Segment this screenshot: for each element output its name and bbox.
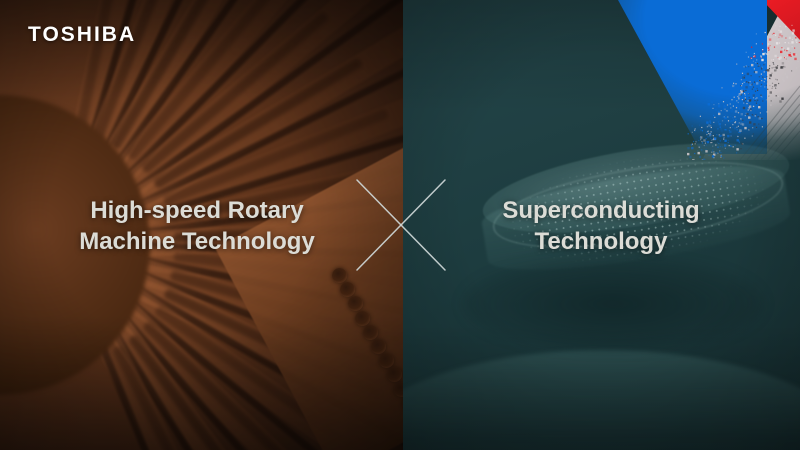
corner-graphic-particle bbox=[700, 139, 701, 140]
corner-graphic-particle bbox=[784, 50, 785, 51]
corner-graphic-particle bbox=[692, 125, 693, 126]
corner-graphic-particle bbox=[757, 63, 758, 64]
corner-graphic-particle bbox=[713, 104, 714, 105]
corner-graphic-particle bbox=[702, 160, 703, 161]
corner-graphic-particle bbox=[687, 153, 689, 155]
corner-graphic-particle bbox=[754, 100, 755, 101]
corner-graphic-particle bbox=[728, 142, 729, 143]
corner-graphic-particle bbox=[706, 145, 707, 146]
corner-graphic-particle bbox=[719, 150, 720, 151]
corner-graphic-particle bbox=[759, 80, 760, 81]
corner-graphic-particle bbox=[738, 102, 739, 103]
corner-graphic-particle bbox=[761, 74, 762, 75]
corner-graphic-particle bbox=[741, 85, 742, 86]
corner-graphic-particle bbox=[721, 110, 722, 111]
corner-graphic-particle bbox=[727, 135, 729, 137]
corner-graphic-particle bbox=[710, 142, 711, 143]
corner-graphic-particle bbox=[769, 96, 770, 97]
corner-graphic-particle bbox=[739, 68, 740, 69]
corner-graphic-particle bbox=[783, 66, 784, 67]
corner-graphic-particle bbox=[748, 56, 749, 57]
corner-graphic-particle bbox=[766, 99, 767, 100]
corner-graphic-particle bbox=[704, 145, 705, 146]
corner-graphic-particle bbox=[775, 79, 776, 80]
corner-graphic-particle bbox=[741, 79, 742, 80]
corner-graphic-particle bbox=[766, 81, 767, 82]
corner-graphic-particle bbox=[760, 55, 761, 56]
corner-graphic-particle bbox=[730, 103, 731, 104]
corner-graphic-particle bbox=[732, 85, 734, 87]
corner-graphic-particle bbox=[759, 117, 761, 119]
corner-graphic-particle bbox=[777, 73, 778, 74]
corner-graphic-particle bbox=[729, 130, 730, 131]
corner-graphic-particle bbox=[746, 103, 747, 104]
corner-graphic-particle bbox=[705, 150, 707, 152]
corner-graphic-particle bbox=[712, 139, 713, 140]
corner-graphic-particle bbox=[765, 62, 766, 63]
corner-graphic-particle bbox=[784, 66, 785, 67]
corner-graphic-particle bbox=[790, 52, 791, 53]
corner-graphic-particle bbox=[708, 133, 709, 134]
headline-superconducting: Superconducting Technology bbox=[455, 195, 747, 257]
corner-graphic-particle bbox=[750, 110, 751, 111]
corner-graphic-particle bbox=[744, 93, 745, 94]
corner-graphic-particle bbox=[758, 124, 759, 125]
corner-graphic-particle bbox=[720, 140, 721, 141]
corner-graphic-particle bbox=[741, 90, 742, 91]
corner-graphic-particle bbox=[728, 120, 729, 121]
corner-graphic-particle bbox=[783, 80, 784, 81]
corner-graphic-particle bbox=[717, 128, 718, 129]
corner-graphic-particle bbox=[754, 71, 755, 72]
corner-graphic-particle bbox=[761, 59, 763, 61]
corner-graphic-particle bbox=[735, 145, 736, 146]
corner-graphic-particle bbox=[745, 90, 746, 91]
corner-graphic-particle bbox=[737, 84, 738, 85]
corner-graphic-particle bbox=[714, 137, 716, 139]
corner-graphic-particle bbox=[770, 105, 771, 106]
corner-graphic-particle bbox=[723, 117, 724, 118]
corner-graphic-particle bbox=[735, 119, 736, 120]
corner-graphic-particle bbox=[695, 128, 696, 129]
corner-graphic-particle bbox=[769, 84, 770, 85]
corner-graphic-particle bbox=[753, 97, 754, 98]
corner-graphic-particle bbox=[787, 65, 788, 66]
corner-graphic-particle bbox=[734, 86, 735, 87]
corner-graphic-particle bbox=[786, 58, 787, 59]
corner-graphic-particle bbox=[770, 74, 772, 76]
corner-graphic-particle bbox=[761, 118, 762, 119]
corner-graphic-particle bbox=[739, 122, 740, 123]
corner-graphic-particle bbox=[793, 53, 795, 55]
corner-graphic-particle bbox=[736, 127, 737, 128]
corner-graphic-particle bbox=[764, 78, 765, 79]
corner-graphic-particle bbox=[764, 71, 765, 72]
corner-graphic-particle bbox=[758, 106, 760, 108]
corner-graphic-particle bbox=[753, 123, 755, 125]
corner-graphic-particle bbox=[697, 150, 698, 151]
corner-graphic-particle bbox=[796, 30, 797, 31]
corner-graphic-particle bbox=[707, 136, 708, 137]
corner-graphic-particle bbox=[781, 47, 782, 48]
corner-graphic-particle bbox=[712, 146, 713, 147]
corner-graphic-particle bbox=[711, 131, 712, 132]
corner-graphic-particle bbox=[730, 91, 731, 92]
corner-graphic-particle bbox=[720, 128, 721, 129]
corner-graphic-particle bbox=[791, 41, 793, 43]
corner-graphic-particle bbox=[700, 137, 701, 138]
corner-graphic-particle bbox=[724, 144, 726, 146]
corner-graphic-particle bbox=[760, 86, 761, 87]
corner-graphic-particle bbox=[741, 91, 743, 93]
corner-graphic-particle bbox=[700, 156, 701, 157]
corner-graphic-particle bbox=[734, 127, 736, 129]
corner-graphic-particle bbox=[761, 97, 762, 98]
corner-graphic-particle bbox=[739, 87, 741, 89]
corner-graphic-particle bbox=[764, 81, 765, 82]
corner-graphic-particle bbox=[784, 60, 785, 61]
corner-graphic-particle bbox=[718, 111, 719, 112]
corner-graphic-particle bbox=[751, 47, 752, 48]
corner-graphic-particle bbox=[701, 127, 702, 128]
corner-graphic-particle bbox=[738, 112, 739, 113]
corner-graphic-particle bbox=[772, 86, 773, 87]
corner-graphic-particle bbox=[739, 132, 740, 133]
corner-graphic-particle bbox=[734, 97, 735, 98]
corner-graphic-particle bbox=[788, 61, 789, 62]
headline-high-speed-rotary-machine: High-speed Rotary Machine Technology bbox=[44, 195, 350, 257]
corner-graphic-particle bbox=[730, 135, 731, 136]
corner-graphic-particle bbox=[688, 133, 689, 134]
corner-graphic-particle bbox=[752, 135, 753, 136]
corner-graphic-particle bbox=[765, 32, 766, 33]
corner-graphic-particle bbox=[723, 134, 725, 136]
corner-graphic-particle bbox=[691, 144, 692, 145]
corner-graphic-particle bbox=[776, 87, 777, 88]
corner-graphic-particle bbox=[732, 123, 733, 124]
corner-graphic-particle bbox=[712, 155, 714, 157]
corner-graphic-particle bbox=[787, 77, 788, 78]
corner-graphic-particle bbox=[785, 26, 786, 27]
corner-graphic-particle bbox=[714, 117, 715, 118]
corner-graphic-particle bbox=[747, 73, 749, 75]
corner-graphic-particle bbox=[736, 107, 737, 108]
corner-graphic-particle bbox=[775, 73, 777, 75]
corner-graphic-particle bbox=[689, 156, 691, 158]
corner-graphic-particle bbox=[765, 52, 766, 53]
corner-graphic-particle bbox=[701, 141, 702, 142]
corner-graphic-particle bbox=[745, 66, 746, 67]
corner-graphic-particle bbox=[759, 76, 760, 77]
corner-graphic-particle bbox=[744, 82, 745, 83]
corner-graphic-particle bbox=[766, 70, 767, 71]
corner-graphic-particle bbox=[706, 134, 707, 135]
corner-graphic-particle bbox=[739, 94, 740, 95]
corner-graphic-particle bbox=[730, 145, 731, 146]
corner-graphic-particle bbox=[708, 131, 709, 132]
corner-graphic-particle bbox=[770, 81, 771, 82]
corner-graphic-particle bbox=[716, 134, 717, 135]
corner-graphic-particle bbox=[744, 127, 746, 129]
corner-graphic-particle bbox=[737, 129, 738, 130]
corner-graphic-particle bbox=[742, 76, 744, 78]
corner-graphic-particle bbox=[738, 98, 739, 99]
corner-graphic-particle bbox=[769, 68, 770, 69]
corner-graphic-particle bbox=[727, 116, 728, 117]
corner-graphic-particle bbox=[748, 66, 749, 67]
corner-graphic-particle bbox=[694, 153, 695, 154]
headline-left-line1: High-speed Rotary bbox=[44, 195, 350, 226]
corner-graphic-particle bbox=[705, 149, 706, 150]
corner-graphic-particle bbox=[767, 69, 769, 71]
corner-graphic-particle bbox=[778, 96, 779, 97]
corner-graphic-particle bbox=[723, 137, 724, 138]
corner-graphic-particle bbox=[785, 37, 786, 38]
corner-graphic-particle bbox=[725, 129, 726, 130]
corner-graphic-particle bbox=[779, 34, 781, 36]
corner-graphic-particle bbox=[754, 68, 755, 69]
corner-graphic-particle bbox=[730, 127, 731, 128]
corner-graphic-particle bbox=[790, 43, 791, 44]
corner-graphic-particle bbox=[751, 84, 752, 85]
corner-graphic-particle bbox=[761, 80, 762, 81]
corner-graphic-particle bbox=[742, 73, 743, 74]
corner-graphic-particle bbox=[729, 110, 730, 111]
corner-graphic-particle bbox=[755, 62, 756, 63]
corner-graphic-particle bbox=[733, 146, 734, 147]
corner-graphic-particle bbox=[698, 152, 700, 154]
corner-graphic-particle bbox=[773, 33, 774, 34]
corner-graphic-particle bbox=[795, 39, 797, 41]
corner-graphic-particle bbox=[739, 108, 740, 109]
corner-graphic-particle bbox=[755, 98, 756, 99]
corner-graphic-particle bbox=[745, 97, 746, 98]
corner-graphic-particle bbox=[718, 113, 720, 115]
corner-graphic-particle bbox=[725, 124, 726, 125]
corner-graphic-particle bbox=[745, 86, 747, 88]
corner-graphic-particle bbox=[707, 141, 709, 143]
corner-graphic-particle bbox=[792, 39, 793, 40]
corner-graphic-particle bbox=[769, 62, 770, 63]
corner-graphic-particle bbox=[745, 99, 746, 100]
corner-graphic-particle bbox=[722, 146, 723, 147]
corner-graphic-particle bbox=[743, 103, 744, 104]
corner-graphic-particle bbox=[717, 142, 718, 143]
corner-graphic-particle bbox=[733, 119, 734, 120]
corner-graphic-particle bbox=[702, 142, 703, 143]
corner-graphic-particle bbox=[774, 62, 776, 64]
corner-graphic-particle bbox=[737, 96, 738, 97]
corner-graphic-particle bbox=[724, 140, 726, 142]
corner-graphic-particle bbox=[771, 100, 772, 101]
corner-graphic-particle bbox=[795, 54, 796, 55]
corner-graphic-particle bbox=[750, 117, 751, 118]
corner-graphic-particle bbox=[762, 100, 763, 101]
corner-graphic-particle bbox=[725, 95, 726, 96]
corner-graphic-particle bbox=[737, 123, 738, 124]
corner-graphic-particle bbox=[776, 42, 778, 44]
corner-graphic-particle bbox=[749, 105, 751, 107]
corner-graphic-particle bbox=[754, 53, 755, 54]
corner-graphic-shapes bbox=[590, 0, 800, 160]
corner-graphic-particle bbox=[694, 130, 695, 131]
corner-graphic-particle bbox=[719, 135, 721, 137]
corner-graphic-particle bbox=[712, 108, 713, 109]
corner-graphic-particle bbox=[752, 89, 753, 90]
corner-graphic-particle bbox=[723, 108, 724, 109]
corner-graphic-particle bbox=[705, 143, 706, 144]
corner-graphic-particle bbox=[692, 159, 694, 160]
corner-graphic-particle bbox=[723, 139, 724, 140]
corner-graphic-particle bbox=[717, 147, 718, 148]
corner-graphic-particle bbox=[766, 85, 767, 86]
corner-graphic-particle bbox=[687, 147, 689, 149]
corner-graphic-particle bbox=[748, 93, 749, 94]
corner-graphic-particle bbox=[703, 159, 705, 160]
corner-graphic-particle bbox=[727, 104, 728, 105]
corner-graphic-particle bbox=[699, 125, 700, 126]
corner-graphic-particle bbox=[723, 157, 724, 158]
corner-graphic-particle bbox=[749, 104, 750, 105]
corner-graphic-particle bbox=[777, 79, 778, 80]
slide-canvas: TOSHIBA High-speed Rotary Machine Techno… bbox=[0, 0, 800, 450]
corner-graphic-particle bbox=[743, 91, 744, 92]
headline-right-line1: Superconducting bbox=[455, 195, 747, 226]
corner-graphic-particle bbox=[770, 71, 771, 72]
corner-graphic-particle bbox=[721, 87, 722, 88]
corner-graphic-particle bbox=[769, 49, 770, 50]
corner-graphic-particle bbox=[743, 100, 744, 101]
corner-graphic-particle bbox=[740, 148, 741, 149]
corner-graphic-particle bbox=[761, 68, 762, 69]
corner-graphic-particle bbox=[792, 37, 793, 38]
corner-graphic-particle bbox=[719, 123, 721, 125]
corner-graphic-particle bbox=[741, 143, 742, 144]
corner-graphic-particle bbox=[746, 52, 747, 53]
corner-graphic-particle bbox=[791, 25, 792, 26]
corner-graphic-particle bbox=[711, 140, 712, 141]
corner-graphic-particle bbox=[776, 95, 777, 96]
corner-graphic-particle bbox=[756, 43, 757, 44]
corner-graphic-particle bbox=[717, 153, 718, 154]
corner-graphic-particle bbox=[767, 54, 768, 55]
corner-graphic-particle bbox=[754, 55, 755, 56]
corner-graphic-particle bbox=[795, 37, 796, 38]
corner-graphic-particle bbox=[693, 141, 694, 142]
corner-graphic-particle bbox=[712, 142, 713, 143]
corner-graphic-particle bbox=[779, 59, 780, 60]
corner-graphic-particle bbox=[707, 126, 708, 127]
corner-graphic-particle bbox=[735, 110, 737, 112]
corner-graphic-particle bbox=[761, 84, 762, 85]
corner-graphic-particle bbox=[730, 107, 731, 108]
corner-graphic-particle bbox=[787, 75, 788, 76]
corner-blue-shape bbox=[618, 0, 767, 154]
corner-graphic-particle bbox=[737, 135, 738, 136]
corner-graphic-particle bbox=[736, 64, 737, 65]
corner-graphic-particle bbox=[715, 109, 716, 110]
corner-graphic-particle bbox=[734, 116, 735, 117]
corner-graphic-particle bbox=[745, 95, 746, 96]
corner-graphic-particle bbox=[713, 151, 714, 152]
corner-graphic-particle bbox=[730, 121, 731, 122]
corner-graphic-particle bbox=[736, 98, 737, 99]
corner-graphic-particle bbox=[736, 73, 738, 75]
corner-graphic-particle bbox=[753, 87, 754, 88]
corner-graphic-particle bbox=[766, 76, 767, 77]
corner-graphic-particle bbox=[731, 146, 732, 147]
corner-graphic-particle bbox=[780, 52, 781, 53]
corner-graphic-particle bbox=[702, 130, 703, 131]
corner-graphic-particle bbox=[772, 63, 773, 64]
corner-graphic-particle bbox=[774, 97, 775, 98]
corner-graphic-particle bbox=[775, 86, 776, 87]
corner-graphic-particle bbox=[710, 125, 711, 126]
corner-graphic-particle bbox=[737, 139, 739, 141]
corner-graphic-particle bbox=[731, 99, 732, 100]
corner-graphic-particle bbox=[760, 112, 761, 113]
corner-graphic-particle bbox=[777, 65, 778, 66]
corner-graphic-particle bbox=[789, 37, 791, 39]
corner-graphic-particle bbox=[720, 152, 721, 153]
corner-graphic-particle bbox=[787, 69, 788, 70]
corner-graphic-particle bbox=[741, 113, 743, 115]
corner-graphic-particle bbox=[770, 45, 771, 46]
corner-graphic-particle bbox=[719, 151, 720, 152]
corner-graphic-particle bbox=[762, 43, 763, 44]
corner-graphic-particle bbox=[780, 26, 781, 27]
corner-graphic-particle bbox=[792, 29, 794, 31]
corner-graphic-particle bbox=[785, 57, 786, 58]
corner-graphic-particle bbox=[751, 57, 752, 58]
corner-graphic-particle bbox=[796, 67, 797, 68]
corner-graphic-particle bbox=[710, 123, 711, 124]
headline-right-line2: Technology bbox=[455, 226, 747, 257]
corner-graphic-particle bbox=[724, 117, 726, 119]
corner-graphic-particle bbox=[742, 83, 743, 84]
corner-graphic-particle bbox=[758, 64, 760, 66]
corner-graphic-particle bbox=[779, 100, 781, 102]
corner-graphic-particle bbox=[775, 35, 776, 36]
corner-graphic-particle bbox=[738, 132, 739, 133]
corner-graphic-particle bbox=[757, 88, 758, 89]
corner-graphic-particle bbox=[782, 77, 784, 79]
corner-graphic-particle bbox=[733, 106, 734, 107]
corner-graphic-particle bbox=[739, 142, 740, 143]
corner-graphic-particle bbox=[780, 60, 781, 61]
corner-graphic-particle bbox=[769, 65, 770, 66]
corner-graphic-particle bbox=[751, 99, 752, 100]
corner-graphic-particle bbox=[774, 68, 776, 70]
corner-graphic-particle bbox=[700, 129, 701, 130]
corner-graphic-particle bbox=[725, 115, 726, 116]
corner-graphic-particle bbox=[762, 77, 763, 78]
corner-graphic-particle bbox=[774, 55, 776, 57]
corner-graphic-particle bbox=[740, 130, 741, 131]
corner-graphic-particle bbox=[725, 148, 726, 149]
corner-graphic-particle bbox=[778, 37, 779, 38]
corner-graphic-particle bbox=[763, 64, 764, 65]
corner-graphic-particle bbox=[750, 81, 751, 82]
corner-graphic-particle bbox=[738, 126, 739, 127]
corner-graphic-particle bbox=[719, 103, 720, 104]
corner-graphic-particle bbox=[749, 129, 750, 130]
toshiba-logo: TOSHIBA bbox=[28, 24, 136, 45]
corner-graphic-particle bbox=[748, 100, 749, 101]
corner-graphic-particle bbox=[700, 116, 701, 117]
corner-graphic-particle bbox=[739, 77, 740, 78]
corner-graphic-particle bbox=[778, 70, 779, 71]
